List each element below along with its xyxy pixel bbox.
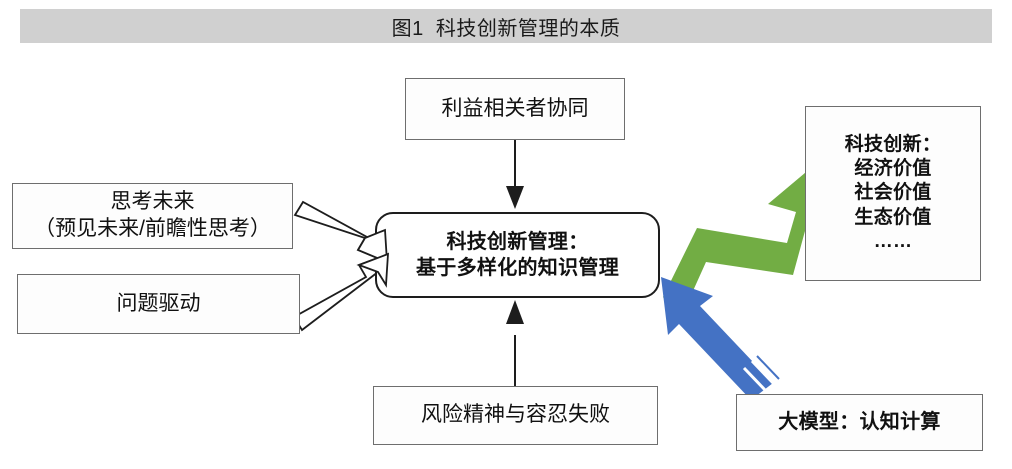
risk-to-center-arrow xyxy=(506,300,524,386)
node-problem-driven[interactable]: 问题驱动 xyxy=(17,274,300,334)
problem-driven-to-center-arrow xyxy=(294,254,388,330)
node-innovation-values-line1: 科技创新： xyxy=(845,133,942,157)
figure-canvas: 图1 科技创新管理的本质 xyxy=(0,0,1012,469)
node-stakeholder-collaboration[interactable]: 利益相关者协同 xyxy=(405,78,625,140)
node-risk-spirit-label: 风险精神与容忍失败 xyxy=(421,402,610,429)
node-innovation-values-line3: 社会价值 xyxy=(854,181,931,205)
node-think-future-line2: （预见未来/前瞻性思考） xyxy=(34,216,271,243)
node-innovation-management-center[interactable]: 科技创新管理： 基于多样化的知识管理 xyxy=(375,212,660,298)
node-think-future-line1: 思考未来 xyxy=(111,189,195,216)
node-stakeholder-collaboration-label: 利益相关者协同 xyxy=(442,96,589,123)
node-innovation-values-line5: …… xyxy=(874,230,913,254)
node-large-model-label: 大模型：认知计算 xyxy=(778,410,940,436)
node-large-model-cognitive-computing[interactable]: 大模型：认知计算 xyxy=(736,394,983,451)
node-innovation-values[interactable]: 科技创新： 经济价值 社会价值 生态价值 …… xyxy=(805,106,981,281)
stakeholder-to-center-arrow xyxy=(506,140,524,209)
node-think-future[interactable]: 思考未来 （预见未来/前瞻性思考） xyxy=(12,183,293,249)
think-future-to-center-arrow xyxy=(295,202,387,262)
large-model-to-center-arrow xyxy=(661,277,779,400)
node-risk-spirit-tolerate-failure[interactable]: 风险精神与容忍失败 xyxy=(373,386,658,445)
node-innovation-values-line4: 生态价值 xyxy=(854,206,931,230)
node-center-line1: 科技创新管理： xyxy=(446,229,588,255)
node-problem-driven-label: 问题驱动 xyxy=(117,291,201,318)
node-innovation-values-line2: 经济价值 xyxy=(854,157,931,181)
node-center-line2: 基于多样化的知识管理 xyxy=(416,255,619,281)
